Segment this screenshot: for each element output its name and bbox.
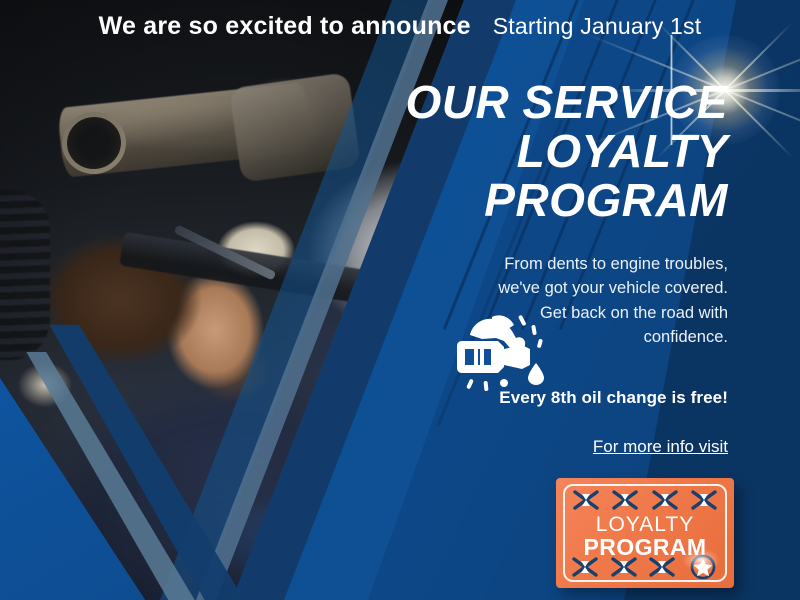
x-stamp-icon	[691, 490, 717, 510]
headline-line-1: OUR SERVICE	[328, 78, 728, 127]
x-stamp-icon	[572, 557, 598, 577]
x-stamp-icon	[611, 557, 637, 577]
more-info-link-wrap: For more info visit	[398, 437, 728, 457]
star-stamp-icon	[688, 554, 718, 580]
loyalty-card[interactable]: LOYALTY PROGRAM	[556, 478, 734, 588]
top-announcement-line: We are so excited to announce Starting J…	[0, 12, 800, 41]
x-stamp-icon	[652, 490, 678, 510]
x-stamp-icon	[649, 557, 675, 577]
x-stamp-icon	[612, 490, 638, 510]
start-date-text: Starting January 1st	[493, 13, 702, 40]
announcement-text: We are so excited to announce	[99, 12, 471, 41]
headline: OUR SERVICE LOYALTY PROGRAM	[328, 78, 728, 226]
card-title-line1: LOYALTY	[556, 514, 734, 535]
more-info-link[interactable]: For more info visit	[593, 437, 728, 456]
body-line-2: we've got your vehicle covered.	[428, 276, 728, 300]
stamp-row-top	[566, 488, 724, 512]
x-stamp-icon	[573, 490, 599, 510]
stamp-row-bottom	[566, 555, 724, 579]
headline-line-2: LOYALTY	[328, 127, 728, 176]
promo-text: Every 8th oil change is free!	[398, 388, 728, 408]
body-line-1: From dents to engine troubles,	[428, 252, 728, 276]
oil-can-pour-icon	[452, 305, 548, 391]
promotional-poster: We are so excited to announce Starting J…	[0, 0, 800, 600]
headline-line-3: PROGRAM	[328, 176, 728, 225]
